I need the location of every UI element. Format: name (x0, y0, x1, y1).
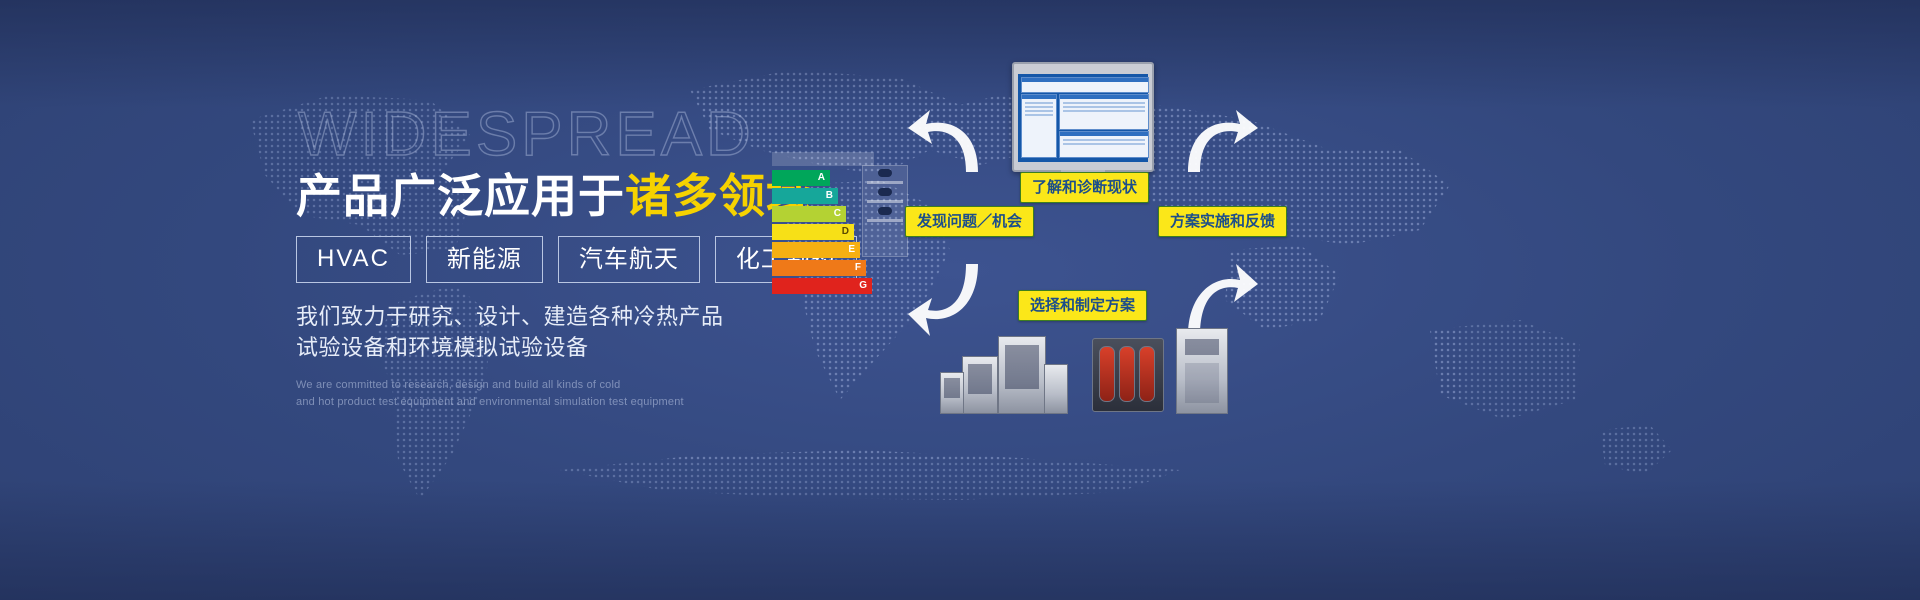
arrow-bottom-left (908, 258, 988, 338)
window-titlebar (1060, 132, 1148, 136)
screen-window (1059, 94, 1149, 130)
hero-banner: WIDESPREAD 产品广泛应用于诸多领域 HVAC 新能源 汽车航天 化工制… (0, 0, 1920, 600)
red-cylinder-unit (1092, 338, 1162, 412)
spec-chip (878, 188, 892, 196)
chamber-side (1044, 364, 1068, 414)
process-diagram: A B C D E F G (900, 40, 1920, 560)
cabinet-display (1185, 339, 1219, 355)
spec-chip (878, 207, 892, 215)
window-row (1025, 106, 1053, 108)
description-chinese: 我们致力于研究、设计、建造各种冷热产品试验设备和环境模拟试验设备 (296, 303, 726, 364)
window-row (1063, 110, 1145, 112)
energy-bar-e: E (772, 242, 860, 258)
spec-chip (878, 169, 892, 177)
chamber-door (968, 364, 992, 394)
energy-grade-a: A (818, 170, 825, 186)
window-titlebar (1022, 78, 1148, 82)
hero-text-block: WIDESPREAD 产品广泛应用于诸多领域 HVAC 新能源 汽车航天 化工制… (296, 104, 996, 410)
label-implement-feedback[interactable]: 方案实施和反馈 (1158, 206, 1287, 237)
cabinet-body (1176, 328, 1228, 414)
energy-bar-b: B (772, 188, 838, 204)
label-select-plan[interactable]: 选择和制定方案 (1018, 290, 1147, 321)
tag-automotive-aerospace[interactable]: 汽车航天 (558, 236, 700, 283)
energy-grade-g: G (859, 278, 867, 294)
energy-bar-a: A (772, 170, 830, 186)
energy-grade-e: E (848, 242, 855, 258)
spec-line (867, 181, 903, 184)
spec-line (867, 200, 903, 203)
window-row (1025, 114, 1053, 116)
window-row (1063, 106, 1145, 108)
window-row (1025, 102, 1053, 104)
window-row (1063, 143, 1145, 145)
description-english-line1: We are committed to research, design and… (296, 377, 696, 394)
monitor-screen (1018, 74, 1148, 162)
chamber-door (944, 378, 960, 398)
energy-label-chart: A B C D E F G (772, 170, 872, 296)
cylinder (1139, 346, 1155, 402)
description-english-line2: and hot product test equipment and envir… (296, 394, 696, 411)
energy-spec-panel (862, 165, 908, 257)
spec-line (867, 219, 903, 222)
energy-bar-d: D (772, 224, 854, 240)
energy-bar-f: F (772, 260, 866, 276)
window-titlebar (1060, 95, 1148, 99)
energy-bar-g: G (772, 278, 872, 294)
chamber-door (1005, 345, 1039, 389)
energy-grade-c: C (834, 206, 841, 222)
tag-new-energy[interactable]: 新能源 (426, 236, 543, 283)
energy-label-header (772, 152, 874, 166)
arrow-top-right (1178, 108, 1258, 180)
chamber-small (940, 372, 964, 414)
cylinder (1099, 346, 1115, 402)
cabinet-unit (1176, 328, 1226, 414)
energy-grade-f: F (855, 260, 861, 276)
energy-bar-c: C (772, 206, 846, 222)
window-row (1063, 102, 1145, 104)
chamber-medium (962, 356, 998, 414)
screen-window (1059, 131, 1149, 158)
screen-window (1021, 77, 1149, 93)
arrow-top-left (908, 108, 988, 180)
energy-grade-b: B (826, 188, 833, 204)
desktop-monitor (1012, 62, 1154, 172)
arrow-bottom-right (1178, 258, 1258, 338)
headline-white: 产品广泛应用于 (296, 169, 625, 223)
chamber-large (998, 336, 1046, 414)
cylinder (1119, 346, 1135, 402)
window-titlebar (1022, 95, 1056, 99)
label-discover-problem[interactable]: 发现问题／机会 (905, 206, 1034, 237)
window-row (1063, 139, 1145, 141)
ghost-headline: WIDESPREAD (298, 104, 996, 166)
description-english: We are committed to research, design and… (296, 377, 696, 410)
energy-grade-d: D (842, 224, 849, 240)
tag-hvac[interactable]: HVAC (296, 236, 411, 283)
window-row (1025, 110, 1053, 112)
test-chamber-group (940, 336, 1066, 414)
label-understand-diagnose[interactable]: 了解和诊断现状 (1020, 172, 1149, 203)
cabinet-door (1185, 363, 1219, 403)
screen-window (1021, 94, 1057, 158)
